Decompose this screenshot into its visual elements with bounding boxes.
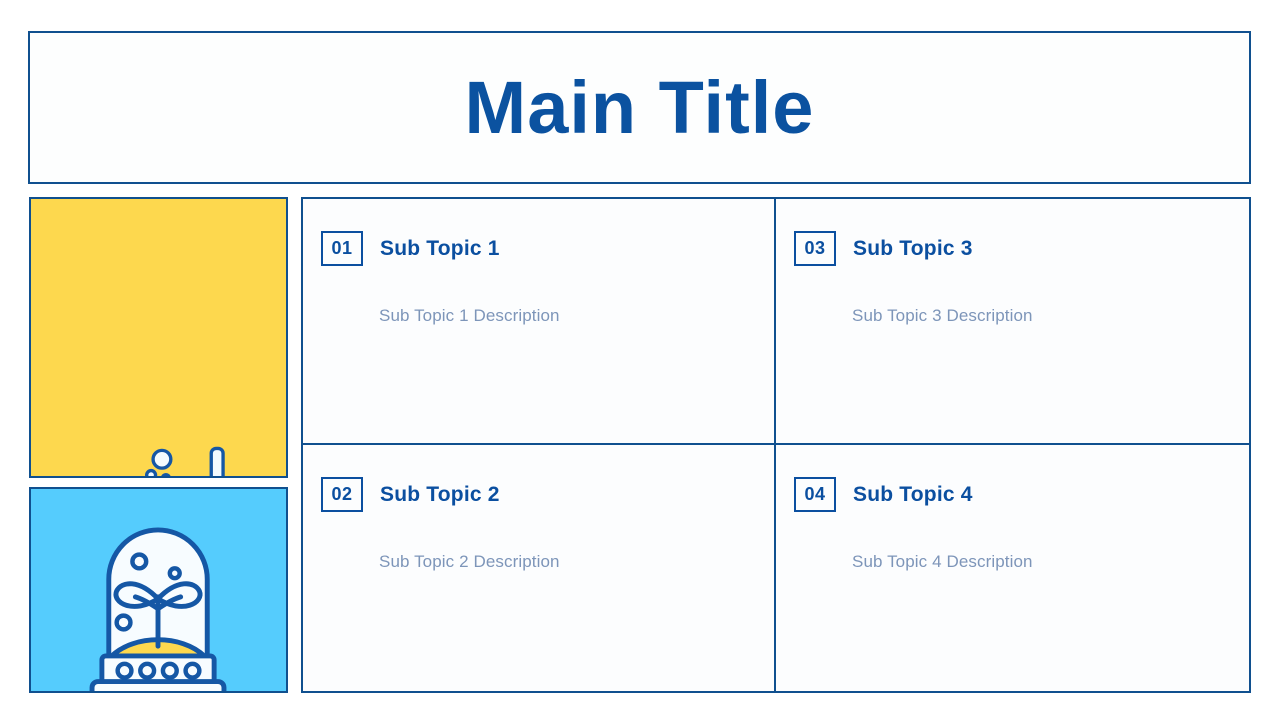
sub-topic-title: Sub Topic 3 (853, 237, 973, 261)
sub-topic-title: Sub Topic 4 (853, 483, 973, 507)
sub-topic-card-03[interactable]: 03 Sub Topic 3 Sub Topic 3 Description (776, 199, 1249, 445)
sub-topic-number-badge: 04 (794, 477, 836, 512)
sub-topic-card-04[interactable]: 04 Sub Topic 4 Sub Topic 4 Description (776, 445, 1249, 691)
sub-topic-header: 01 Sub Topic 1 (321, 231, 774, 266)
sub-topics-grid: 01 Sub Topic 1 Sub Topic 1 Description 0… (301, 197, 1251, 693)
sub-topic-header: 03 Sub Topic 3 (794, 231, 1249, 266)
sub-topic-description: Sub Topic 2 Description (379, 552, 774, 572)
title-bar: Main Title (28, 31, 1251, 184)
sub-topic-card-01[interactable]: 01 Sub Topic 1 Sub Topic 1 Description (303, 199, 776, 445)
sub-topic-description: Sub Topic 4 Description (852, 552, 1249, 572)
sub-topic-number-badge: 02 (321, 477, 363, 512)
sub-topic-number-badge: 03 (794, 231, 836, 266)
page-title: Main Title (465, 71, 815, 145)
sub-topic-title: Sub Topic 1 (380, 237, 500, 261)
illustration-column (29, 197, 288, 693)
sub-topic-title: Sub Topic 2 (380, 483, 500, 507)
seedling-in-glass-dome-icon (31, 489, 286, 691)
flask-and-test-tube-on-stand-icon (31, 199, 286, 476)
sub-topic-number-badge: 01 (321, 231, 363, 266)
sub-topic-card-02[interactable]: 02 Sub Topic 2 Sub Topic 2 Description (303, 445, 776, 691)
sub-topic-description: Sub Topic 3 Description (852, 306, 1249, 326)
plant-under-dome-illustration (29, 487, 288, 693)
chemistry-lab-illustration (29, 197, 288, 478)
sub-topic-header: 02 Sub Topic 2 (321, 477, 774, 512)
sub-topic-header: 04 Sub Topic 4 (794, 477, 1249, 512)
sub-topic-description: Sub Topic 1 Description (379, 306, 774, 326)
